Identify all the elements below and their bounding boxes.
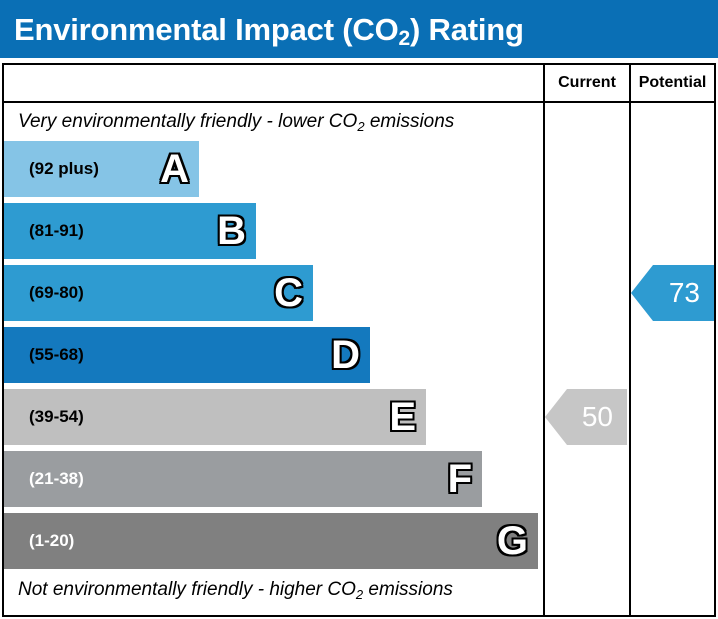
band-row-f: (21-38) F [4, 451, 482, 507]
caption-top-prefix: Very environmentally friendly - lower CO [18, 111, 357, 132]
chart-title-bar: Environmental Impact (CO2) Rating [0, 0, 718, 58]
column-header-current: Current [545, 65, 629, 101]
caption-top-subscript: 2 [357, 119, 364, 134]
band-range-d: (55-68) [4, 345, 84, 365]
band-range-g: (1-20) [4, 531, 74, 551]
column-header-potential: Potential [631, 65, 714, 101]
band-letter-f: F [448, 459, 472, 499]
band-row-g: (1-20) G [4, 513, 538, 569]
caption-bottom: Not environmentally friendly - higher CO… [18, 579, 453, 601]
current-rating-marker: 50 [545, 389, 627, 445]
band-row-e: (39-54) E [4, 389, 426, 445]
caption-bottom-prefix: Not environmentally friendly - higher CO [18, 579, 356, 600]
band-range-c: (69-80) [4, 283, 84, 303]
band-row-b: (81-91) B [4, 203, 256, 259]
band-range-f: (21-38) [4, 469, 84, 489]
band-letter-a: A [160, 149, 189, 189]
caption-top-suffix: emissions [365, 111, 455, 132]
band-letter-e: E [389, 397, 416, 437]
column-divider-potential [629, 65, 631, 615]
page-title-prefix: Environmental Impact (CO [14, 12, 399, 47]
band-range-a: (92 plus) [4, 159, 99, 179]
page-title: Environmental Impact (CO2) Rating [0, 14, 524, 45]
band-letter-b: B [217, 211, 246, 251]
rating-bands: (92 plus) A (81-91) B (69-80) C (55-68) … [4, 141, 541, 575]
band-letter-d: D [331, 335, 360, 375]
column-divider-current [543, 65, 545, 615]
epc-environmental-impact-chart: Environmental Impact (CO2) Rating Curren… [0, 0, 718, 619]
band-row-c: (69-80) C [4, 265, 313, 321]
chart-table-frame: Current Potential Very environmentally f… [2, 63, 716, 617]
caption-bottom-subscript: 2 [356, 587, 363, 602]
potential-rating-value: 73 [669, 277, 700, 309]
band-row-d: (55-68) D [4, 327, 370, 383]
band-range-b: (81-91) [4, 221, 84, 241]
potential-rating-marker: 73 [631, 265, 714, 321]
page-title-subscript: 2 [399, 27, 410, 50]
caption-top: Very environmentally friendly - lower CO… [18, 111, 454, 133]
band-range-e: (39-54) [4, 407, 84, 427]
current-rating-value: 50 [582, 401, 613, 433]
band-letter-g: G [497, 521, 528, 561]
caption-bottom-suffix: emissions [363, 579, 453, 600]
page-title-suffix: ) Rating [410, 12, 524, 47]
header-divider [4, 101, 714, 103]
band-letter-c: C [274, 273, 303, 313]
band-row-a: (92 plus) A [4, 141, 199, 197]
